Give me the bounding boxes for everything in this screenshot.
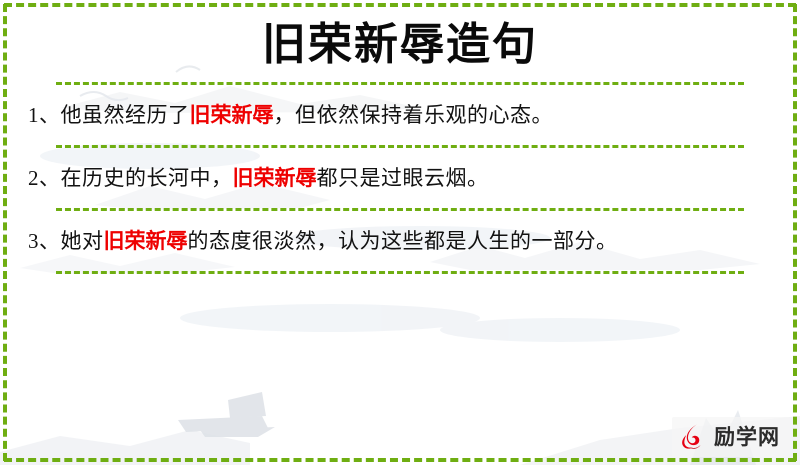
sentence-index-2: 2、 [28, 166, 61, 190]
site-watermark: 励学网 [672, 417, 790, 457]
site-watermark-brand: 励学网 [714, 427, 780, 448]
flame-swirl-logo-icon [678, 422, 708, 452]
keyword-highlight-3: 旧荣新辱 [104, 229, 188, 253]
sentence-item-3: 3、她对旧荣新辱的态度很淡然，认为这些都是人生的一部分。 [18, 211, 782, 271]
divider-after-sentence-3 [56, 271, 744, 274]
page-title: 旧荣新辱造句 [18, 0, 782, 82]
sentence-text-before-1: 他虽然经历了 [61, 103, 190, 127]
sentence-index-3: 3、 [28, 229, 61, 253]
sentence-text-before-2: 在历史的长河中， [61, 166, 233, 190]
sentence-text-after-3: 的态度很淡然，认为这些都是人生的一部分。 [188, 229, 618, 253]
content-area: 旧荣新辱造句 1、他虽然经历了旧荣新辱，但依然保持着乐观的心态。 2、在历史的长… [0, 0, 800, 465]
sentence-text-after-1: ，但依然保持着乐观的心态。 [274, 103, 554, 127]
keyword-highlight-1: 旧荣新辱 [190, 103, 274, 127]
sentence-index-1: 1、 [28, 103, 61, 127]
sentence-item-1: 1、他虽然经历了旧荣新辱，但依然保持着乐观的心态。 [18, 85, 782, 145]
sentence-item-2: 2、在历史的长河中，旧荣新辱都只是过眼云烟。 [18, 148, 782, 208]
worksheet-page: 旧荣新辱造句 1、他虽然经历了旧荣新辱，但依然保持着乐观的心态。 2、在历史的长… [0, 0, 800, 465]
keyword-highlight-2: 旧荣新辱 [233, 166, 317, 190]
sentence-text-after-2: 都只是过眼云烟。 [317, 166, 489, 190]
sentence-text-before-3: 她对 [61, 229, 104, 253]
